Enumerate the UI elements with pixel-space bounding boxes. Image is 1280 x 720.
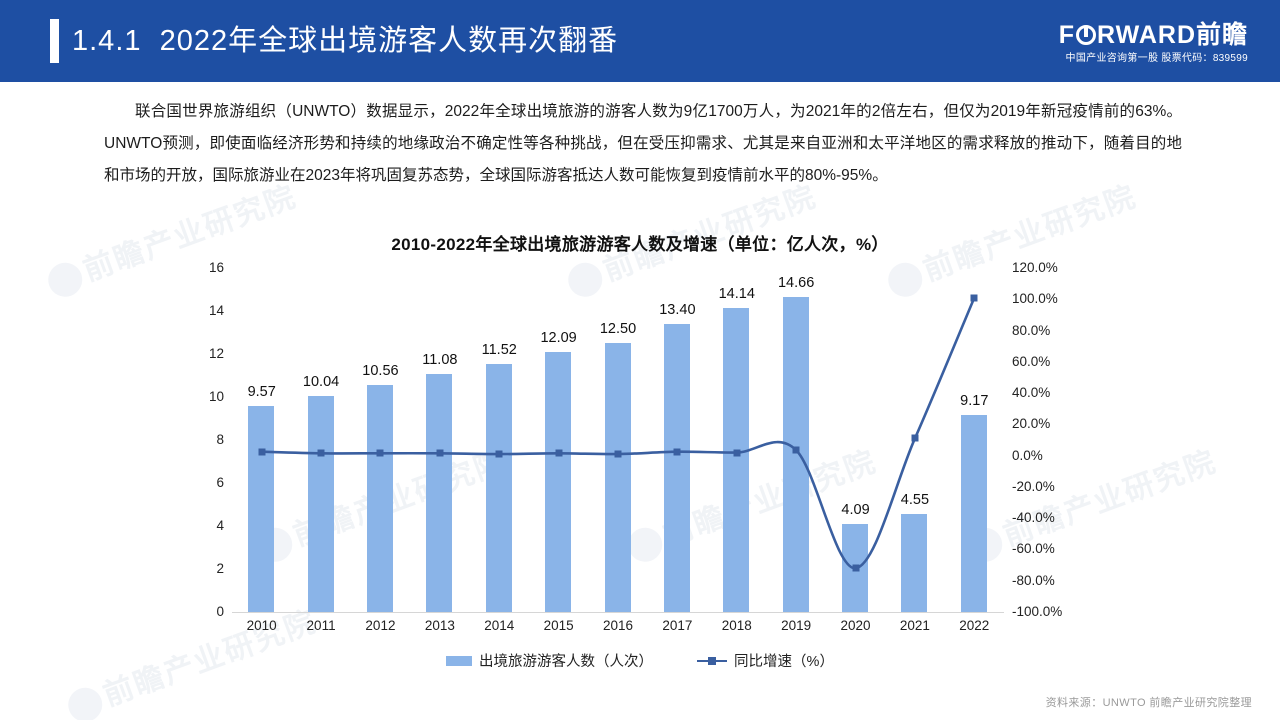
y-axis-tick-right: 0.0% <box>1012 449 1092 463</box>
y-axis-tick-left: 6 <box>188 476 224 490</box>
brand-logo: FRWARD前瞻 中国产业咨询第一股 股票代码：839599 <box>1059 22 1248 66</box>
logo-wordmark: FRWARD前瞻 <box>1059 22 1248 49</box>
chart-bar[interactable] <box>367 385 393 612</box>
x-axis-tick: 2018 <box>707 618 767 633</box>
y-axis-tick-right: -20.0% <box>1012 480 1092 494</box>
y-axis-tick-right: -100.0% <box>1012 605 1092 619</box>
watermark-circle-icon <box>63 683 107 720</box>
x-axis-tick: 2010 <box>232 618 292 633</box>
body-paragraph: 联合国世界旅游组织（UNWTO）数据显示，2022年全球出境旅游的游客人数为9亿… <box>104 96 1182 192</box>
legend-bar-swatch-icon <box>446 656 472 666</box>
chart-bar[interactable] <box>426 374 452 612</box>
chart-bar[interactable] <box>545 352 571 612</box>
y-axis-tick-left: 4 <box>188 519 224 533</box>
chart-bar-label: 11.52 <box>467 342 531 358</box>
logo-tagline: 中国产业咨询第一股 股票代码：839599 <box>1059 52 1248 66</box>
y-axis-tick-right: 100.0% <box>1012 292 1092 306</box>
chart-bar-label: 14.66 <box>764 275 828 291</box>
chart-bar[interactable] <box>783 297 809 612</box>
chart-legend: 出境旅游游客人数（人次） 同比增速（%） <box>0 650 1280 671</box>
chart-bar[interactable] <box>605 343 631 612</box>
logo-suffix: RWARD前瞻 <box>1097 21 1248 49</box>
y-axis-tick-right: -80.0% <box>1012 574 1092 588</box>
y-axis-tick-left: 12 <box>188 347 224 361</box>
logo-o-icon <box>1076 25 1096 45</box>
legend-line-swatch-icon <box>697 656 727 666</box>
chart-plot-area <box>232 268 1004 612</box>
legend-label-line: 同比增速（%） <box>734 650 834 671</box>
chart-x-axis-line <box>232 612 1004 613</box>
legend-item-bars[interactable]: 出境旅游游客人数（人次） <box>446 650 653 671</box>
y-axis-tick-left: 2 <box>188 562 224 576</box>
chart-bar[interactable] <box>664 324 690 612</box>
page-title: 1.4.1 2022年全球出境游客人数再次翻番 <box>72 20 618 62</box>
source-note: 资料来源：UNWTO 前瞻产业研究院整理 <box>1046 694 1252 710</box>
page-title-text: 2022年全球出境游客人数再次翻番 <box>160 25 619 57</box>
x-axis-tick: 2015 <box>529 618 589 633</box>
line-marker[interactable] <box>615 451 622 458</box>
x-axis-tick: 2012 <box>350 618 410 633</box>
y-axis-tick-left: 8 <box>188 433 224 447</box>
chart-bar-label: 9.57 <box>230 384 294 400</box>
chart-bar-label: 10.04 <box>289 374 353 390</box>
section-number: 1.4.1 <box>72 25 142 57</box>
y-axis-tick-right: 60.0% <box>1012 355 1092 369</box>
y-axis-tick-left: 16 <box>188 261 224 275</box>
y-axis-tick-left: 10 <box>188 390 224 404</box>
header-accent-bar <box>50 19 59 63</box>
line-marker[interactable] <box>436 450 443 457</box>
line-marker[interactable] <box>911 435 918 442</box>
line-marker[interactable] <box>733 449 740 456</box>
x-axis-tick: 2021 <box>885 618 945 633</box>
y-axis-tick-left: 14 <box>188 304 224 318</box>
x-axis-tick: 2020 <box>826 618 886 633</box>
chart-bar-label: 12.09 <box>527 330 591 346</box>
legend-label-bars: 出境旅游游客人数（人次） <box>479 650 653 671</box>
chart-bar-label: 11.08 <box>408 352 472 368</box>
x-axis-tick: 2022 <box>944 618 1004 633</box>
line-marker[interactable] <box>971 294 978 301</box>
x-axis-tick: 2014 <box>469 618 529 633</box>
chart-bar[interactable] <box>901 514 927 612</box>
chart-bar-label: 10.56 <box>348 363 412 379</box>
legend-item-line[interactable]: 同比增速（%） <box>697 650 834 671</box>
chart-bar-label: 4.55 <box>883 492 947 508</box>
line-marker[interactable] <box>674 448 681 455</box>
y-axis-tick-left: 0 <box>188 605 224 619</box>
x-axis-tick: 2019 <box>766 618 826 633</box>
line-marker[interactable] <box>793 447 800 454</box>
line-marker[interactable] <box>318 450 325 457</box>
chart-bar-label: 13.40 <box>645 302 709 318</box>
y-axis-tick-right: 80.0% <box>1012 324 1092 338</box>
y-axis-tick-right: -60.0% <box>1012 542 1092 556</box>
chart-bar[interactable] <box>486 364 512 612</box>
x-axis-tick: 2017 <box>647 618 707 633</box>
watermark-circle-icon <box>43 258 87 302</box>
y-axis-tick-right: 20.0% <box>1012 417 1092 431</box>
chart-bar-label: 9.17 <box>942 393 1006 409</box>
page-header: 1.4.1 2022年全球出境游客人数再次翻番 FRWARD前瞻 中国产业咨询第… <box>0 0 1280 82</box>
line-marker[interactable] <box>496 451 503 458</box>
y-axis-tick-right: -40.0% <box>1012 511 1092 525</box>
line-marker[interactable] <box>258 448 265 455</box>
chart-bar-label: 4.09 <box>824 502 888 518</box>
slide-page: 前瞻产业研究院 前瞻产业研究院 前瞻产业研究院 前瞻产业研究院 前瞻产业研究院 … <box>0 0 1280 720</box>
chart-bar[interactable] <box>723 308 749 612</box>
chart-title: 2010-2022年全球出境旅游游客人数及增速（单位：亿人次，%） <box>0 230 1280 255</box>
x-axis-tick: 2013 <box>410 618 470 633</box>
logo-prefix: F <box>1059 21 1075 49</box>
y-axis-tick-right: 40.0% <box>1012 386 1092 400</box>
chart-bar-label: 12.50 <box>586 321 650 337</box>
chart-bar[interactable] <box>248 406 274 612</box>
line-marker[interactable] <box>852 565 859 572</box>
line-marker[interactable] <box>377 450 384 457</box>
chart-bar[interactable] <box>961 415 987 612</box>
chart-bar-label: 14.14 <box>705 286 769 302</box>
y-axis-tick-right: 120.0% <box>1012 261 1092 275</box>
x-axis-tick: 2016 <box>588 618 648 633</box>
x-axis-tick: 2011 <box>291 618 351 633</box>
line-marker[interactable] <box>555 450 562 457</box>
chart-bar[interactable] <box>308 396 334 612</box>
